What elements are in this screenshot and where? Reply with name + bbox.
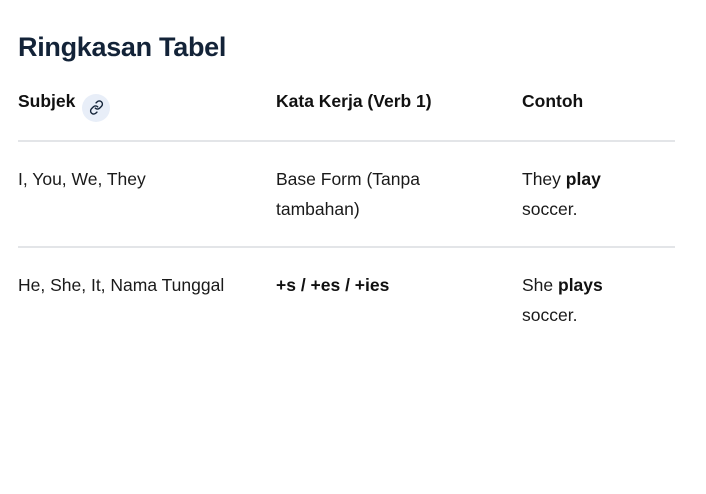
column-header-kata-kerja: Kata Kerja (Verb 1) xyxy=(276,86,522,141)
cell-contoh-suffix: soccer. xyxy=(522,305,577,325)
cell-verb-rule-text: Base Form (Tanpa tambahan) xyxy=(276,169,420,219)
cell-contoh-highlight: play xyxy=(566,169,601,189)
cell-subjek: He, She, It, Nama Tunggal xyxy=(18,247,276,352)
cell-subjek-text: He, She, It, Nama Tunggal xyxy=(18,275,224,295)
table-header-row: Subjek Kata Kerja (Verb 1) Contoh xyxy=(18,86,675,141)
cell-contoh: She plays soccer. xyxy=(522,247,675,352)
cell-contoh-suffix: soccer. xyxy=(522,199,577,219)
cell-contoh-prefix: They xyxy=(522,169,566,189)
column-header-subjek: Subjek xyxy=(18,86,276,141)
column-header-contoh-label: Contoh xyxy=(522,91,583,111)
link-icon[interactable] xyxy=(82,94,110,122)
column-header-kata-kerja-label: Kata Kerja (Verb 1) xyxy=(276,91,432,111)
cell-subjek-text: I, You, We, They xyxy=(18,169,146,189)
summary-table-page: Ringkasan Tabel Subjek Kata Kerja (Verb … xyxy=(0,0,706,494)
column-header-subjek-label: Subjek xyxy=(18,91,75,111)
table-row: He, She, It, Nama Tunggal +s / +es / +ie… xyxy=(18,247,675,352)
cell-contoh-prefix: She xyxy=(522,275,558,295)
cell-contoh: They play soccer. xyxy=(522,141,675,247)
cell-subjek: I, You, We, They xyxy=(18,141,276,247)
table-row: I, You, We, They Base Form (Tanpa tambah… xyxy=(18,141,675,247)
cell-verb-rule-text: +s / +es / +ies xyxy=(276,275,389,295)
column-header-contoh: Contoh xyxy=(522,86,675,141)
cell-verb-rule: Base Form (Tanpa tambahan) xyxy=(276,141,522,247)
page-title: Ringkasan Tabel xyxy=(18,30,226,65)
summary-table: Subjek Kata Kerja (Verb 1) Contoh I, You… xyxy=(18,86,675,352)
table-header: Subjek Kata Kerja (Verb 1) Contoh xyxy=(18,86,675,141)
table-body: I, You, We, They Base Form (Tanpa tambah… xyxy=(18,141,675,352)
cell-verb-rule: +s / +es / +ies xyxy=(276,247,522,352)
cell-contoh-highlight: plays xyxy=(558,275,603,295)
